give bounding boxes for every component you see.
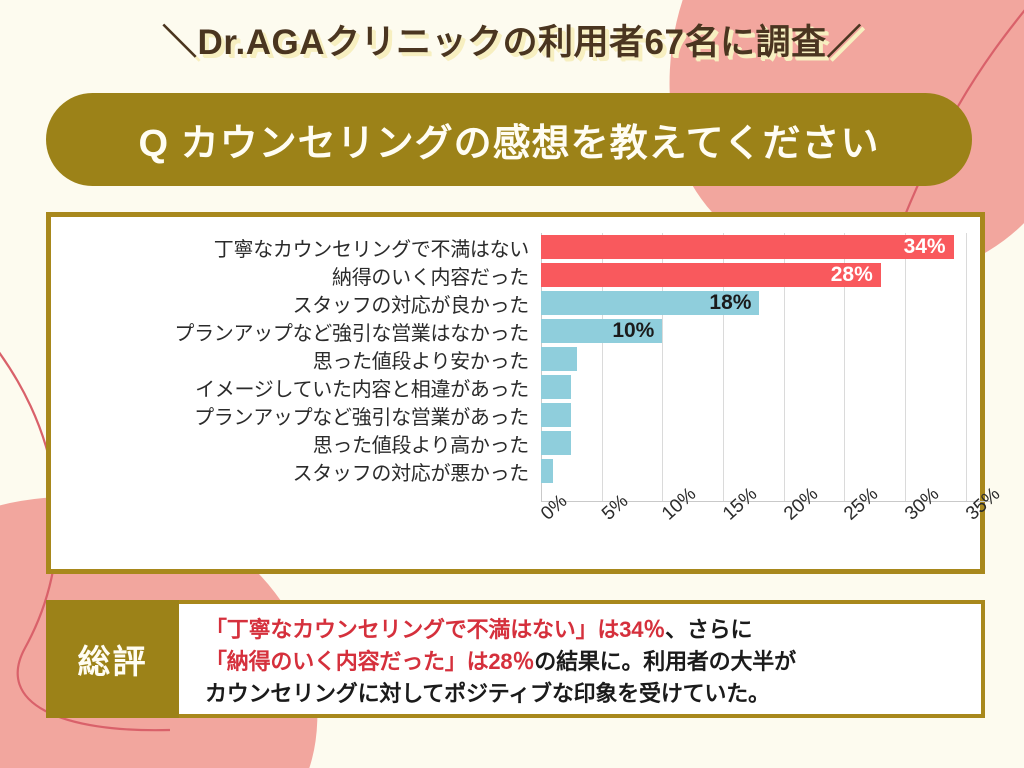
chart-bar-value: 10% [612,319,662,343]
chart-plot-area: 丁寧なカウンセリングで不満はない34%納得のいく内容だった28%スタッフの対応が… [51,217,980,569]
summary-highlight-text: 「丁寧なカウンセリングで不満はない」は34％ [205,617,665,642]
chart-category-label: スタッフの対応が良かった [51,289,541,318]
chart-bar-area [541,429,980,457]
chart-category-label: 思った値段より高かった [51,429,541,458]
chart-bar-area: 28% [541,261,980,289]
summary-text: 、さらに [665,617,752,642]
infographic-page: ＼Dr.AGAクリニックの利用者67名に調査／ Q カウンセリングの感想を教えて… [0,0,1024,768]
x-tick-label: 15% [719,484,762,526]
summary-text: カウンセリングに対してポジティブな印象を受けていた。 [205,681,770,706]
chart-row: 思った値段より安かった [51,345,980,373]
chart-category-label: イメージしていた内容と相違があった [51,373,541,402]
chart-row: プランアップなど強引な営業はなかった10% [51,317,980,345]
chart-bar-area [541,401,980,429]
x-tick-label: 10% [658,484,701,526]
chart-rows: 丁寧なカウンセリングで不満はない34%納得のいく内容だった28%スタッフの対応が… [51,233,980,485]
chart-bar-value: 34% [904,235,954,259]
chart-bar-value: 18% [709,291,759,315]
summary-line: 「丁寧なカウンセリングで不満はない」は34％、さらに [205,614,981,646]
question-banner: Q カウンセリングの感想を教えてください [46,93,972,186]
chart-category-label: 思った値段より安かった [51,345,541,374]
summary-line: カウンセリングに対してポジティブな印象を受けていた。 [205,678,981,710]
chart-bar-area: 18% [541,289,980,317]
x-tick-label: 20% [780,484,823,526]
chart-category-label: 丁寧なカウンセリングで不満はない [51,233,541,262]
chart-row: スタッフの対応が悪かった [51,457,980,485]
x-tick-label: 35% [962,484,1005,526]
chart-bar-area [541,345,980,373]
survey-header: ＼Dr.AGAクリニックの利用者67名に調査／ [0,14,1024,65]
summary-line: 「納得のいく内容だった」は28％の結果に。利用者の大半が [205,646,981,678]
chart-bar-area [541,373,980,401]
chart-row: スタッフの対応が良かった18% [51,289,980,317]
x-tick-label: 25% [840,484,883,526]
chart-bar [541,459,553,483]
chart-bar-area: 34% [541,233,980,261]
chart-category-label: スタッフの対応が悪かった [51,457,541,486]
x-tick-label: 30% [901,484,944,526]
chart-bar-area [541,457,980,485]
question-text: Q カウンセリングの感想を教えてください [138,112,879,167]
chart-bar [541,375,571,399]
chart-bar-area: 10% [541,317,980,345]
summary-tag-label: 総評 [78,635,148,683]
chart-panel: 丁寧なカウンセリングで不満はない34%納得のいく内容だった28%スタッフの対応が… [46,212,985,574]
x-tick-label: 0% [537,491,572,526]
summary-highlight-text: 「納得のいく内容だった」は28％ [205,649,534,674]
x-tick-label: 5% [598,491,633,526]
summary-body: 「丁寧なカウンセリングで不満はない」は34％、さらに「納得のいく内容だった」は2… [179,600,985,718]
chart-category-label: プランアップなど強引な営業があった [51,401,541,430]
chart-bar: 34% [541,235,954,259]
chart-bar [541,431,571,455]
chart-row: イメージしていた内容と相違があった [51,373,980,401]
chart-row: プランアップなど強引な営業があった [51,401,980,429]
summary-text: の結果に。利用者の大半が [534,649,796,674]
chart-row: 思った値段より高かった [51,429,980,457]
summary-section: 総評 「丁寧なカウンセリングで不満はない」は34％、さらに「納得のいく内容だった… [46,600,985,718]
chart-category-label: 納得のいく内容だった [51,261,541,290]
chart-bar: 10% [541,319,662,343]
chart-bar [541,403,571,427]
chart-x-axis-ticks: 0%5%10%15%20%25%30%35% [541,505,990,565]
chart-row: 納得のいく内容だった28% [51,261,980,289]
chart-bar [541,347,577,371]
chart-bar-value: 28% [831,263,881,287]
chart-bar: 28% [541,263,881,287]
chart-category-label: プランアップなど強引な営業はなかった [51,317,541,346]
chart-bar: 18% [541,291,759,315]
summary-tag-box: 総評 [46,600,179,718]
chart-row: 丁寧なカウンセリングで不満はない34% [51,233,980,261]
survey-header-text: ＼Dr.AGAクリニックの利用者67名に調査／ [162,14,862,65]
